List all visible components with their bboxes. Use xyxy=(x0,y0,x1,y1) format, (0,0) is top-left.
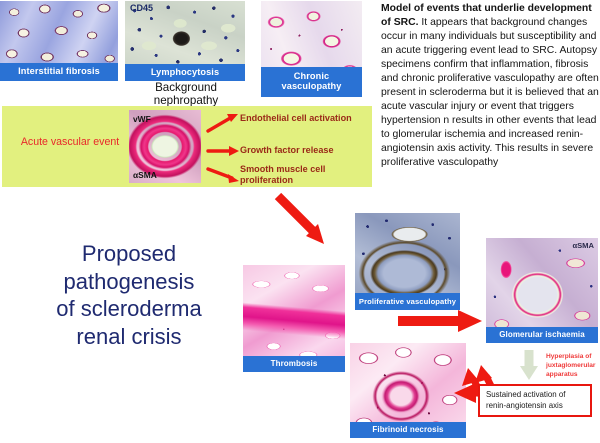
arrow-renin-left-head xyxy=(454,383,476,403)
hyperplasia-note-line-1: Hyperplasia of xyxy=(546,353,600,362)
consequence-smooth-muscle: Smooth muscle cell proliferation xyxy=(240,164,325,185)
hyperplasia-note-line-2: juxtaglomerular xyxy=(546,362,600,371)
panel-glomerular-ischaemia: αSMA Glomerular ischaemia xyxy=(486,238,598,343)
panel-interstitial-fibrosis: Interstitial fibrosis xyxy=(0,1,118,81)
renin-box-line-1: Sustained activation of xyxy=(486,390,590,401)
arrow-acute-to-thrombosis-shaft xyxy=(278,196,314,232)
panel-fibrinoid-necrosis: Fibrinoid necrosis xyxy=(350,343,466,438)
caption-lymphocytosis: Lymphocytosis xyxy=(125,64,245,81)
panel-proliferative-vasculopathy: Proliferative vasculopathy xyxy=(355,213,460,310)
figure-title: Proposed pathogenesis of scleroderma ren… xyxy=(18,240,240,351)
figure-title-line-4: renal crisis xyxy=(18,323,240,351)
panel-lymphocytosis: CD45 Lymphocytosis xyxy=(125,1,245,81)
consequence-smooth-muscle-line2: proliferation xyxy=(240,175,325,186)
figure-title-line-2: pathogenesis xyxy=(18,268,240,296)
panel-chronic-vasculopathy: Chronic vasculopathy xyxy=(261,1,362,97)
acute-event-arrows-group xyxy=(205,106,245,187)
consequence-growth-factor-text: Growth factor release xyxy=(240,145,334,155)
arrow-endothelial-shaft xyxy=(208,117,232,131)
caption-interstitial-fibrosis: Interstitial fibrosis xyxy=(0,63,118,81)
consequence-endothelial-text: Endothelial cell activation xyxy=(240,113,352,123)
figure-title-line-3: of scleroderma xyxy=(18,295,240,323)
renin-box-line-2: renin-angiotensin axis xyxy=(486,401,590,412)
caption-glomerular-ischaemia: Glomerular ischaemia xyxy=(486,327,598,343)
background-nephropathy-group-label: Background nephropathy xyxy=(124,81,248,107)
micrograph-vessel-vwf-asma xyxy=(129,110,201,183)
acute-vascular-event-label: Acute vascular event xyxy=(14,136,126,148)
caption-fibrinoid-necrosis: Fibrinoid necrosis xyxy=(350,422,466,438)
arrow-prolif-to-glomerular-head xyxy=(458,310,482,332)
arrow-acute-to-thrombosis xyxy=(274,192,336,254)
renin-angiotensin-box: Sustained activation of renin-angiotensi… xyxy=(478,384,592,417)
caption-chronic-line2: vasculopathy xyxy=(282,82,342,92)
consequence-growth-factor: Growth factor release xyxy=(240,145,334,156)
hyperplasia-note-line-3: apparatus xyxy=(546,371,600,380)
arrow-smooth-muscle-head xyxy=(228,174,239,183)
consequence-smooth-muscle-line1: Smooth muscle cell xyxy=(240,164,325,175)
hyperplasia-note: Hyperplasia of juxtaglomerular apparatus xyxy=(546,353,600,379)
caption-thrombosis: Thrombosis xyxy=(243,356,345,372)
model-of-events-body: It appears that background changes occur… xyxy=(381,17,599,168)
arrow-growth-head xyxy=(229,146,239,156)
arrow-glomerular-to-renin-head xyxy=(520,366,538,380)
panel-acute-vessel: vWF αSMA xyxy=(129,110,201,183)
model-of-events-text: Model of events that underlie developmen… xyxy=(381,2,599,170)
consequence-endothelial: Endothelial cell activation xyxy=(240,113,352,124)
panel-thrombosis: Thrombosis xyxy=(243,265,345,372)
arrow-glomerular-to-renin xyxy=(516,348,542,384)
caption-chronic-vasculopathy: Chronic vasculopathy xyxy=(261,67,362,97)
figure-title-line-1: Proposed xyxy=(18,240,240,268)
arrow-prolif-to-glomerular xyxy=(396,306,488,336)
